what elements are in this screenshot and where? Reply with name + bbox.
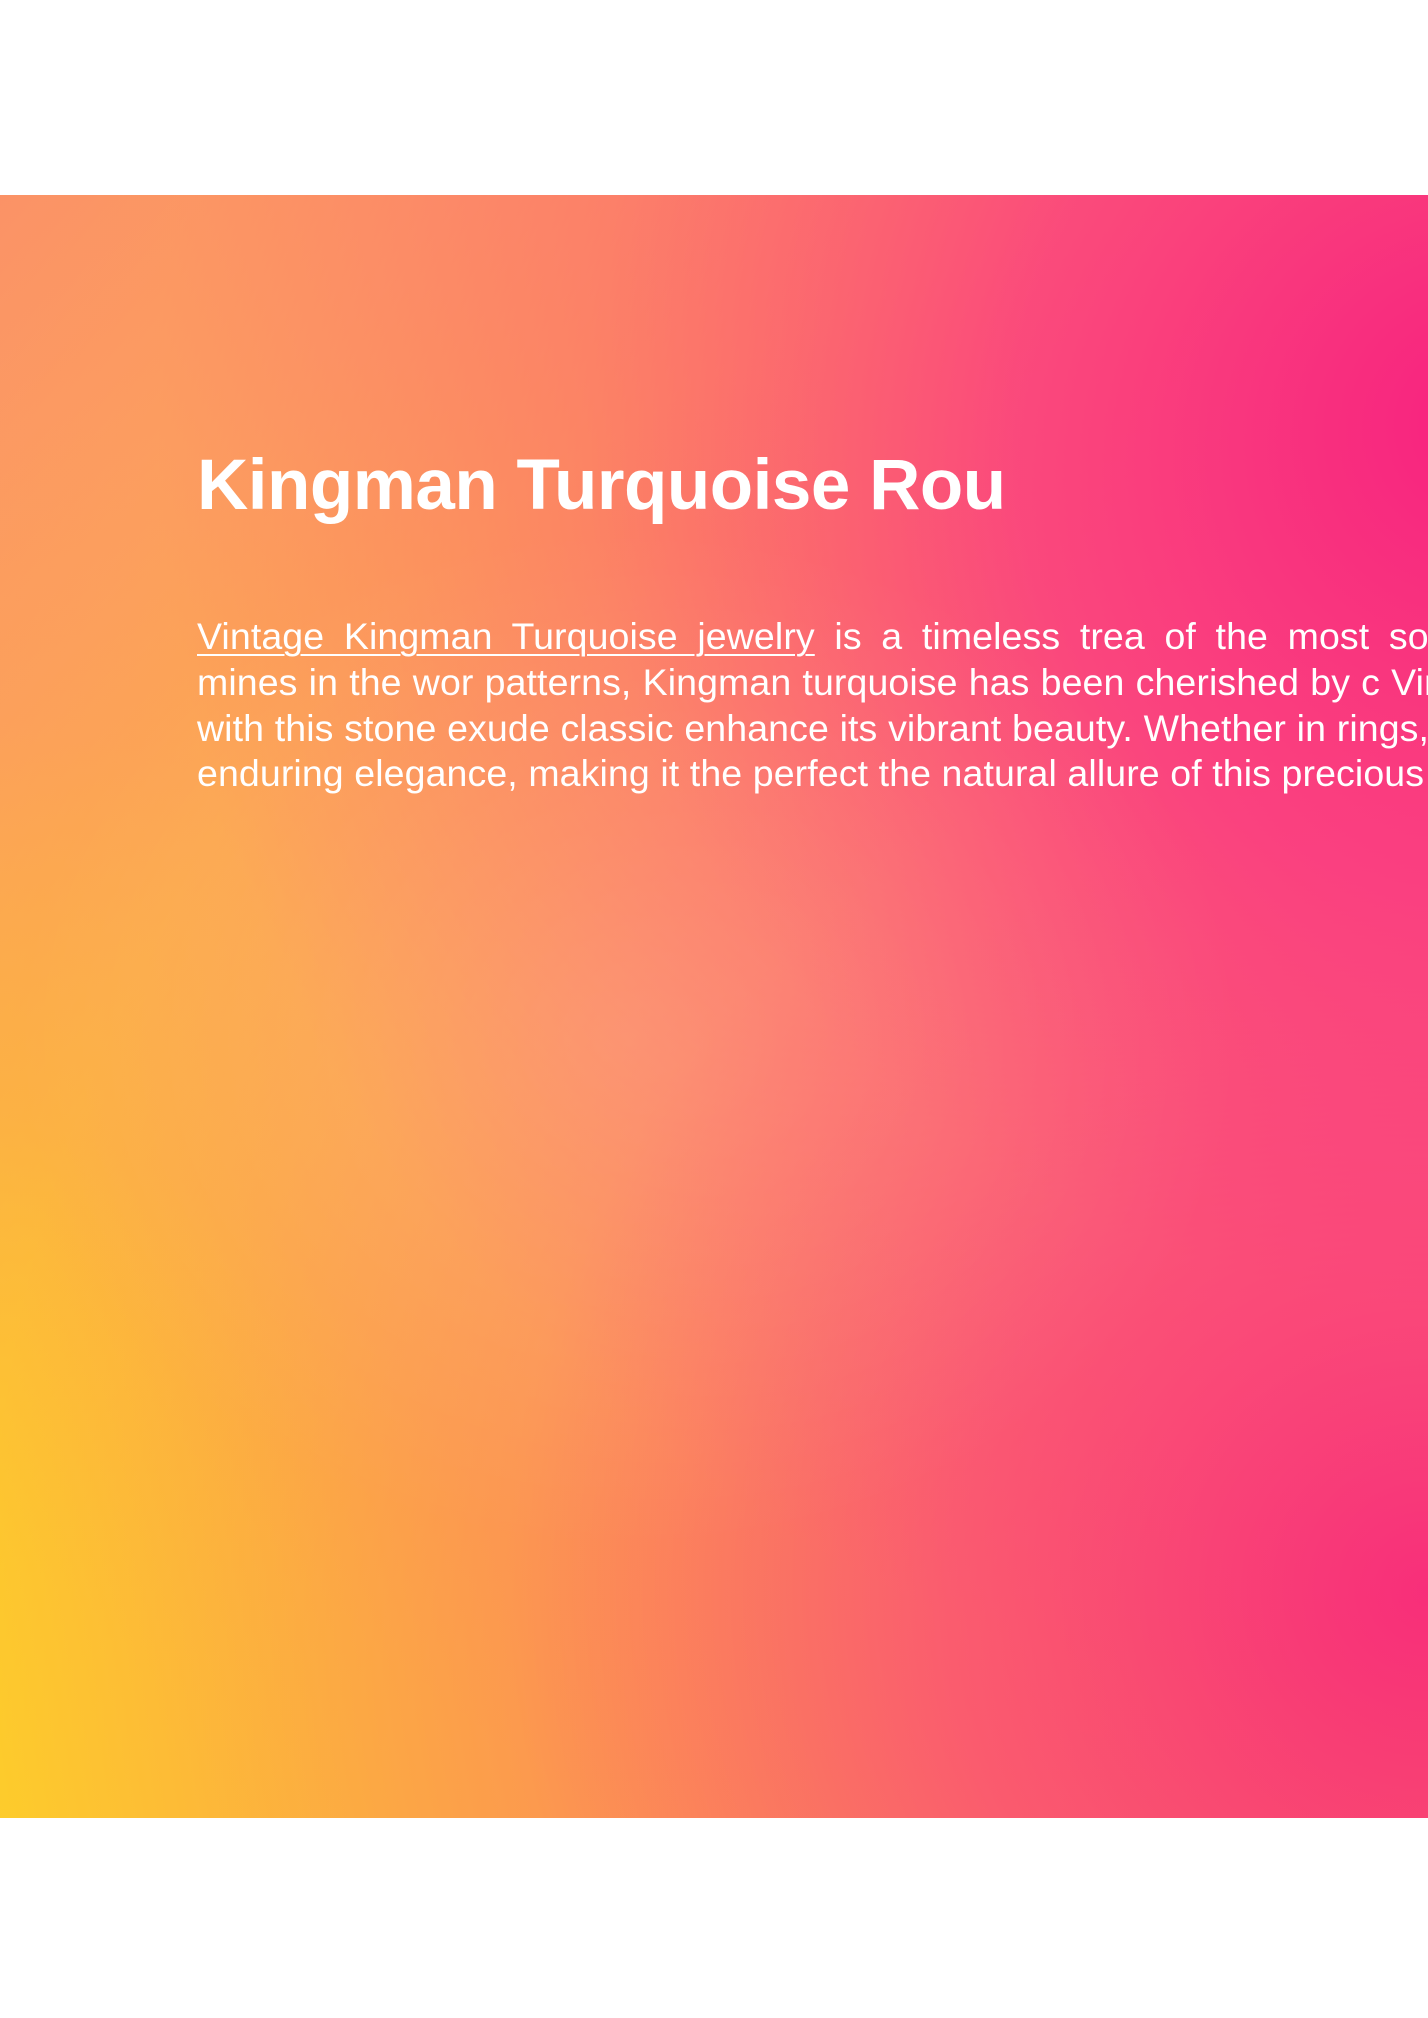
page-title: Kingman Turquoise Rou bbox=[197, 450, 1428, 522]
hero-content-block: Kingman Turquoise Rou Vintage Kingman Tu… bbox=[197, 450, 1428, 797]
gradient-hero-banner: Kingman Turquoise Rou Vintage Kingman Tu… bbox=[0, 195, 1428, 1818]
vintage-kingman-turquoise-jewelry-link[interactable]: Vintage Kingman Turquoise jewelry bbox=[197, 615, 815, 657]
page-canvas: Kingman Turquoise Rou Vintage Kingman Tu… bbox=[0, 0, 1428, 2018]
hero-description-paragraph: Vintage Kingman Turquoise jewelry is a t… bbox=[197, 614, 1428, 796]
